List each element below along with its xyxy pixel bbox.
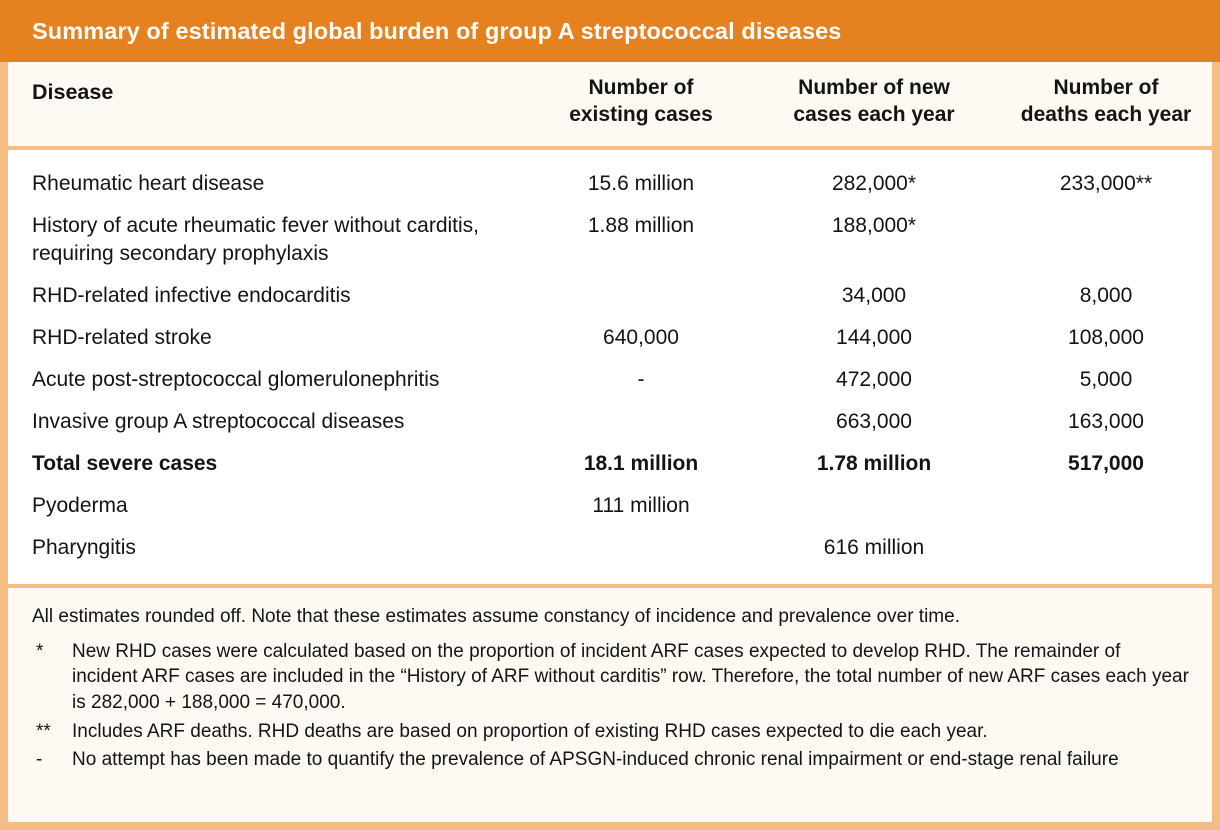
row-disease-label: History of acute rheumatic fever without…: [32, 212, 532, 267]
row-new-cases: 282,000*: [768, 170, 980, 198]
column-header-disease: Disease: [32, 80, 113, 105]
table-row: Invasive group A streptococcal diseases6…: [8, 400, 1212, 442]
row-new-cases: 663,000: [768, 408, 980, 436]
row-existing-cases: -: [536, 366, 746, 394]
row-disease-label: RHD-related stroke: [32, 324, 212, 352]
row-new-cases: 144,000: [768, 324, 980, 352]
row-existing-cases: 111 million: [536, 492, 746, 520]
table-row: Pharyngitis616 million: [8, 526, 1212, 568]
footnote-lead: All estimates rounded off. Note that the…: [32, 604, 1190, 630]
footnote-marker: *: [32, 639, 72, 716]
footnote-block: All estimates rounded off. Note that the…: [8, 588, 1212, 822]
row-deaths: 517,000: [1000, 450, 1212, 478]
column-header-existing-cases-line1: Number of: [536, 75, 746, 102]
footnote-text: New RHD cases were calculated based on t…: [72, 639, 1190, 716]
table-row: RHD-related stroke640,000144,000108,000: [8, 316, 1212, 358]
summary-table-card: Summary of estimated global burden of gr…: [0, 0, 1220, 830]
row-existing-cases: 15.6 million: [536, 170, 746, 198]
column-header-existing-cases: Number of existing cases: [536, 75, 746, 129]
row-disease-label: Total severe cases: [32, 450, 217, 478]
column-header-new-cases: Number of new cases each year: [768, 75, 980, 129]
table-row: History of acute rheumatic fever without…: [8, 204, 1212, 274]
row-disease-label: Pharyngitis: [32, 534, 136, 562]
footnote-item: **Includes ARF deaths. RHD deaths are ba…: [32, 719, 1190, 745]
row-deaths: 163,000: [1000, 408, 1212, 436]
row-disease-label: Invasive group A streptococcal diseases: [32, 408, 404, 436]
column-header-deaths-line1: Number of: [1000, 75, 1212, 102]
column-header-existing-cases-line2: existing cases: [536, 102, 746, 129]
row-disease-label: RHD-related infective endocarditis: [32, 282, 351, 310]
table-body: Rheumatic heart disease15.6 million282,0…: [8, 150, 1212, 588]
table-row: Acute post-streptococcal glomerulonephri…: [8, 358, 1212, 400]
table-row: RHD-related infective endocarditis34,000…: [8, 274, 1212, 316]
table-column-header: Disease Number of existing cases Number …: [8, 62, 1212, 150]
row-new-cases: 616 million: [768, 534, 980, 562]
footnote-item: *New RHD cases were calculated based on …: [32, 639, 1190, 716]
table-frame: Disease Number of existing cases Number …: [0, 62, 1220, 830]
row-deaths: 233,000**: [1000, 170, 1212, 198]
row-new-cases: 1.78 million: [768, 450, 980, 478]
row-disease-label: Acute post-streptococcal glomerulonephri…: [32, 366, 439, 394]
footnote-text: No attempt has been made to quantify the…: [72, 747, 1190, 773]
row-deaths: 5,000: [1000, 366, 1212, 394]
footnote-marker: -: [32, 747, 72, 773]
row-new-cases: 34,000: [768, 282, 980, 310]
row-existing-cases: 640,000: [536, 324, 746, 352]
table-row: Rheumatic heart disease15.6 million282,0…: [8, 162, 1212, 204]
table-title-bar: Summary of estimated global burden of gr…: [0, 0, 1220, 62]
footnote-list: *New RHD cases were calculated based on …: [32, 639, 1190, 773]
footnote-item: -No attempt has been made to quantify th…: [32, 747, 1190, 773]
table-row: Pyoderma111 million: [8, 484, 1212, 526]
row-deaths: 108,000: [1000, 324, 1212, 352]
footnote-text: Includes ARF deaths. RHD deaths are base…: [72, 719, 1190, 745]
column-header-new-cases-line1: Number of new: [768, 75, 980, 102]
row-new-cases: 188,000*: [768, 212, 980, 240]
page-title: Summary of estimated global burden of gr…: [32, 18, 841, 45]
column-header-deaths: Number of deaths each year: [1000, 75, 1212, 129]
table-row: Total severe cases18.1 million1.78 milli…: [8, 442, 1212, 484]
footnote-marker: **: [32, 719, 72, 745]
row-disease-label: Rheumatic heart disease: [32, 170, 264, 198]
row-deaths: 8,000: [1000, 282, 1212, 310]
row-existing-cases: 18.1 million: [536, 450, 746, 478]
row-disease-label: Pyoderma: [32, 492, 128, 520]
row-existing-cases: 1.88 million: [536, 212, 746, 240]
column-header-new-cases-line2: cases each year: [768, 102, 980, 129]
column-header-deaths-line2: deaths each year: [1000, 102, 1212, 129]
row-new-cases: 472,000: [768, 366, 980, 394]
